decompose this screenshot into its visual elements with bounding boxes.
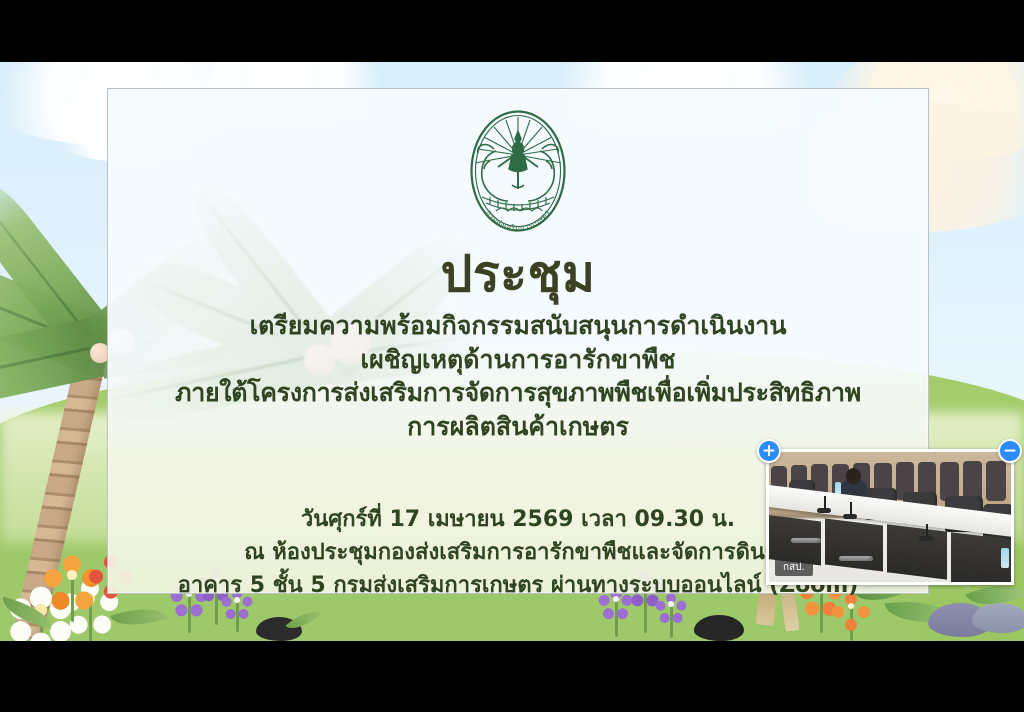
desk-panel (825, 518, 883, 571)
participant-head (846, 468, 861, 484)
page-title: ประชุม (108, 249, 928, 299)
participant-name-label: กสป. (775, 559, 813, 576)
microphone-stem (850, 502, 852, 515)
rock-decoration (694, 615, 744, 641)
subtitle-line-1: เตรียมความพร้อมกิจกรรมสนับสนุนการดำเนินง… (118, 309, 918, 343)
expand-thumbnail-button[interactable]: + (757, 439, 781, 463)
emblem-motto-text: กรมส่งเสริมการเกษตร (484, 208, 551, 233)
subtitle-block: เตรียมความพร้อมกิจกรรมสนับสนุนการดำเนินง… (118, 309, 918, 443)
chair (963, 461, 982, 501)
zoom-share-viewport: กรมส่งเสริมการเกษตร ประชุม เตรียมความพร้… (0, 0, 1024, 712)
chair-base (839, 556, 873, 561)
organization-emblem: กรมส่งเสริมการเกษตร (456, 107, 580, 245)
microphone-stem (926, 524, 928, 537)
video-thumbnail[interactable]: กสป. (766, 449, 1014, 585)
svg-text:กรมส่งเสริมการเกษตร: กรมส่งเสริมการเกษตร (484, 208, 551, 233)
desk-panel (887, 524, 947, 579)
rock-decoration (972, 603, 1024, 633)
meeting-room-video-frame: กสป. (769, 452, 1011, 582)
water-bottle (1001, 548, 1009, 568)
subtitle-line-2: เผชิญเหตุด้านการอารักขาพืช (118, 343, 918, 377)
microphone-stem (824, 496, 826, 509)
subtitle-line-3: ภายใต้โครงการส่งเสริมการจัดการสุขภาพพืชเ… (118, 376, 918, 410)
agricultural-extension-seal-icon: กรมส่งเสริมการเกษตร (456, 107, 580, 245)
collapse-thumbnail-button[interactable]: − (998, 439, 1022, 463)
subtitle-line-4: การผลิตสินค้าเกษตร (118, 410, 918, 444)
chair-base (791, 538, 821, 543)
chair (986, 461, 1006, 501)
